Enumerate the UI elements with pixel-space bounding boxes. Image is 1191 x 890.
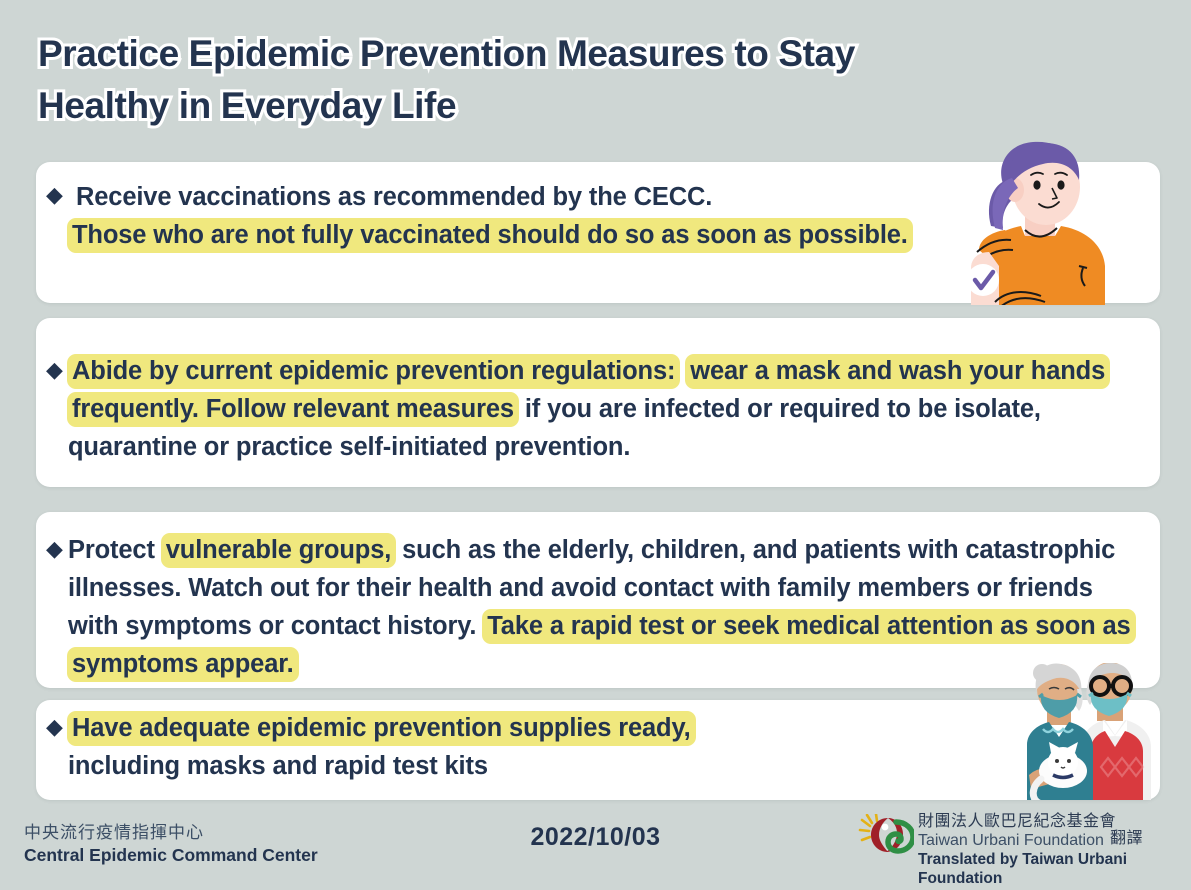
highlight-run: vulnerable groups, — [161, 533, 396, 568]
plain-run: Protect — [68, 536, 162, 564]
measure-card-supplies: ◆ Have adequate epidemic prevention supp… — [36, 700, 1160, 800]
measure-card-vaccination: ◆ Receive vaccinations as recommended by… — [36, 162, 1160, 303]
bullet-diamond-icon: ◆ — [46, 359, 63, 381]
bullet-diamond-icon: ◆ — [46, 716, 63, 738]
card-2-text: Abide by current epidemic prevention reg… — [68, 352, 1138, 466]
bullet-diamond-icon: ◆ — [46, 538, 63, 560]
highlight-run: Those who are not fully vaccinated shoul… — [67, 218, 913, 253]
plain-run: including masks and rapid test kits — [68, 752, 488, 780]
card-4-text: Have adequate epidemic prevention suppli… — [68, 709, 898, 785]
page-title: Practice Epidemic Prevention Measures to… — [38, 28, 1058, 132]
highlight-run: Have adequate epidemic prevention suppli… — [67, 711, 696, 746]
taiwan-urbani-foundation-logo-icon — [858, 814, 914, 856]
urbani-translation-credit: Translated by Taiwan Urbani Foundation — [918, 850, 1178, 888]
card-3-text: Protect vulnerable groups, such as the e… — [68, 531, 1144, 683]
card-1-highlighted-text: Those who are not fully vaccinated shoul… — [68, 216, 938, 254]
bullet-diamond-icon: ◆ — [46, 184, 63, 206]
highlight-run: Abide by current epidemic prevention reg… — [67, 354, 680, 389]
measure-card-regulations: ◆ Abide by current epidemic prevention r… — [36, 318, 1160, 487]
translation-label-zh: 翻譯 — [1110, 824, 1143, 848]
card-1-line-1: Receive vaccinations as recommended by t… — [76, 178, 946, 216]
measure-card-vulnerable-groups: ◆ Protect vulnerable groups, such as the… — [36, 512, 1160, 688]
